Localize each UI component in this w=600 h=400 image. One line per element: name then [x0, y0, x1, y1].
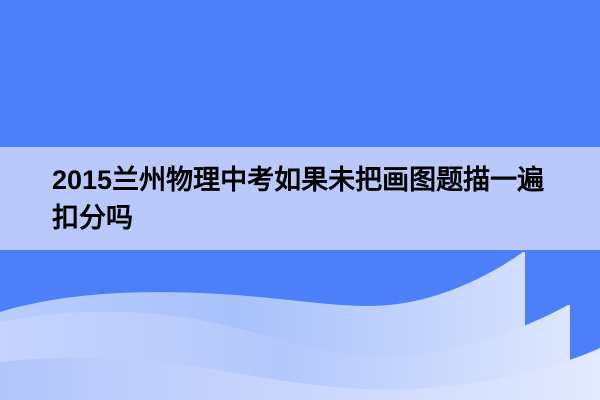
wave-decoration — [0, 250, 600, 400]
title-line-1: 2015兰州物理中考如果未把画图题描一遍 — [52, 161, 548, 199]
wave-graphic — [0, 250, 600, 400]
top-blue-band — [0, 0, 600, 147]
poster-canvas: 2015兰州物理中考如果未把画图题描一遍 扣分吗 — [0, 0, 600, 400]
title-band: 2015兰州物理中考如果未把画图题描一遍 扣分吗 — [0, 147, 600, 250]
title-line-2: 扣分吗 — [52, 199, 548, 237]
